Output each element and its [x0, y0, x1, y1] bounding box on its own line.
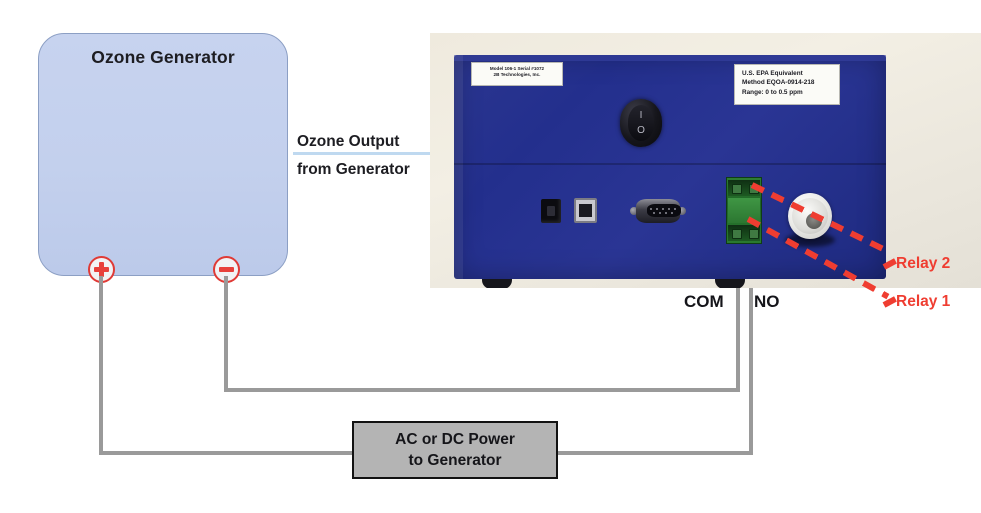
relay-1-label: Relay 1: [896, 293, 950, 311]
terminal-row-bottom: [728, 225, 760, 241]
ozone-generator-label: Ozone Generator: [38, 47, 288, 68]
ozone-output-label-line1: Ozone Output: [297, 133, 399, 151]
wire-negative-vertical: [224, 276, 228, 392]
model-sticker-line2: 2B Technologies, Inc.: [476, 72, 558, 78]
ozone-generator-box: [38, 33, 288, 276]
db9-serial-port: [630, 199, 686, 223]
diagram-canvas: Ozone Generator Ozone Output from Genera…: [0, 0, 981, 513]
epa-equivalency-sticker: U.S. EPA Equivalent Method EQOA-0914-218…: [734, 64, 840, 105]
power-on-symbol: I: [640, 111, 643, 121]
power-switch-rocker[interactable]: I O: [628, 105, 654, 141]
ozone-output-label-line2: from Generator: [297, 161, 410, 179]
power-jack-connector: [541, 199, 561, 223]
usb-b-port: [574, 198, 597, 223]
epa-sticker-line3: Range: 0 to 0.5 ppm: [742, 89, 833, 97]
db9-face: [647, 204, 681, 217]
power-off-symbol: O: [637, 126, 645, 136]
power-box-line2: to Generator: [408, 453, 501, 469]
wire-middle-bus: [224, 388, 740, 392]
terminal-screw-bottom-right: [749, 229, 759, 239]
epa-sticker-line2: Method EQOA-0914-218: [742, 79, 833, 87]
minus-icon-bar: [219, 267, 234, 272]
terminal-screw-bottom-left: [732, 229, 742, 239]
chassis-top-edge: [454, 55, 886, 61]
chassis-left-bevel: [454, 55, 463, 279]
db9-shell: [636, 199, 680, 223]
power-switch[interactable]: I O: [620, 99, 662, 147]
wire-positive-vertical: [99, 276, 103, 455]
epa-sticker-line1: U.S. EPA Equivalent: [742, 70, 833, 78]
chassis-seam: [454, 163, 886, 165]
terminal-screw-top-left: [732, 184, 742, 194]
relay-2-label: Relay 2: [896, 255, 950, 273]
model-serial-sticker: Model 106-1 Serial #1072 2B Technologies…: [471, 62, 563, 86]
plus-icon-vertical-bar: [99, 262, 104, 277]
com-pin-label: COM: [684, 292, 724, 312]
no-pin-label: NO: [754, 292, 780, 312]
ac-dc-power-box: AC or DC Power to Generator: [352, 421, 558, 479]
power-box-line1: AC or DC Power: [395, 432, 515, 448]
instrument-photo: Model 106-1 Serial #1072 2B Technologies…: [430, 33, 981, 288]
